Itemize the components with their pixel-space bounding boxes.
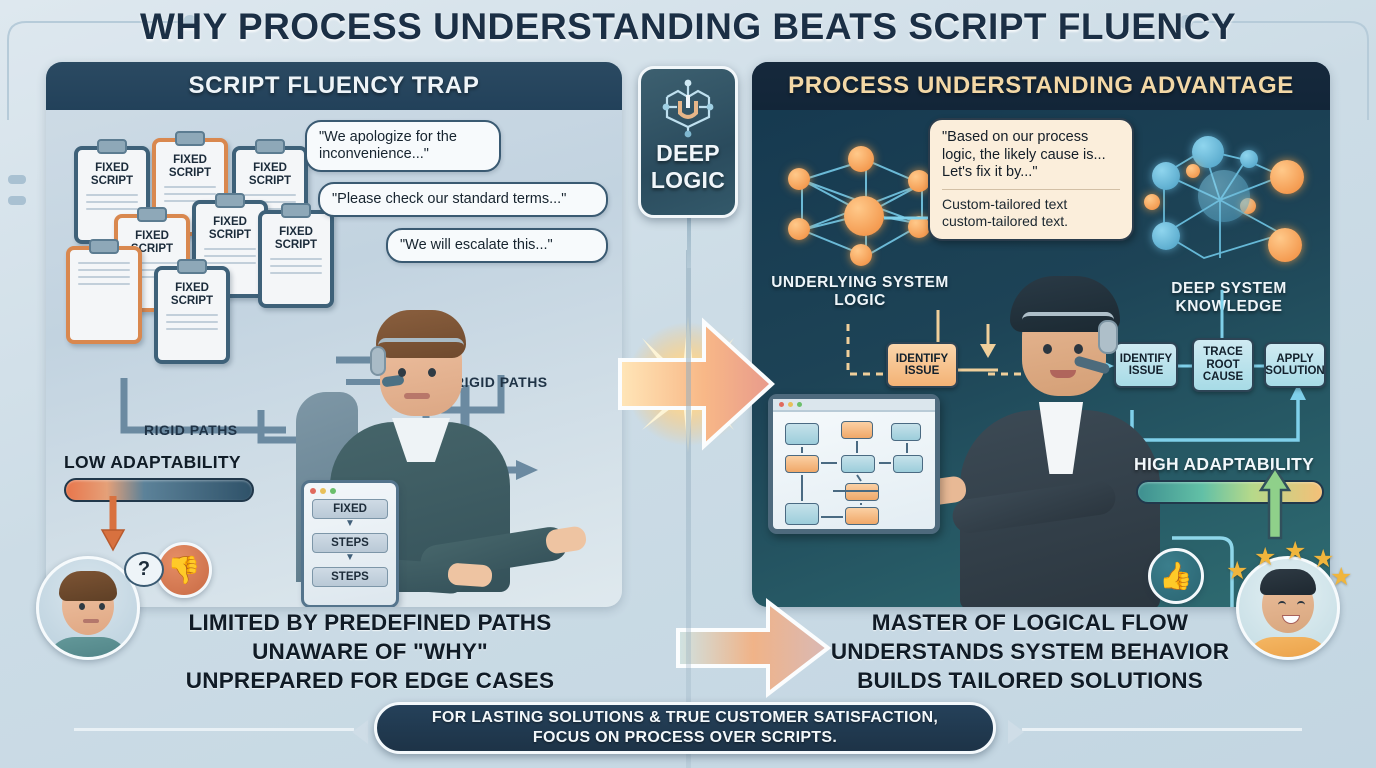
- clipboard-label: FIXED SCRIPT: [78, 162, 146, 188]
- clipboard-lines: [86, 194, 138, 210]
- left-conclusion-line-2: UNAWARE OF "WHY": [150, 637, 590, 666]
- footer-rail-right: [1022, 728, 1302, 731]
- clipboard-blank: [66, 246, 142, 344]
- right-conclusion: MASTER OF LOGICAL FLOW UNDERSTANDS SYSTE…: [810, 608, 1250, 695]
- right-panel-header: PROCESS UNDERSTANDING ADVANTAGE: [752, 62, 1330, 110]
- step-down-arrow-icon: ▼: [304, 553, 396, 562]
- process-answer-main: "Based on our process logic, the likely …: [942, 129, 1120, 182]
- clipboard-lines: [78, 262, 130, 285]
- step-chip: STEPS: [312, 533, 388, 553]
- script-bubble-1: "We apologize for the inconvenience...": [305, 120, 501, 172]
- left-conclusion: LIMITED BY PREDEFINED PATHS UNAWARE OF "…: [150, 608, 590, 695]
- script-bubble-3: "We will escalate this...": [386, 228, 608, 263]
- right-conclusion-line-1: MASTER OF LOGICAL FLOW: [810, 608, 1250, 637]
- deep-logic-badge[interactable]: DEEP LOGIC: [638, 66, 738, 218]
- avatar-body: [45, 637, 131, 660]
- deco-dot-5: [8, 175, 26, 184]
- right-conclusion-line-2: UNDERSTANDS SYSTEM BEHAVIOR: [810, 637, 1250, 666]
- right-conclusion-line-3: BUILDS TAILORED SOLUTIONS: [810, 666, 1250, 695]
- infographic-canvas: WHY PROCESS UNDERSTANDING BEATS SCRIPT F…: [0, 0, 1376, 768]
- bubble-divider: [942, 189, 1120, 190]
- low-adaptability-label: LOW ADAPTABILITY: [64, 452, 241, 473]
- clipboard-lines: [270, 258, 322, 274]
- question-mark-glyph: ?: [138, 558, 150, 581]
- rating-star: ★: [1284, 536, 1306, 566]
- up-trend-arrow-icon: [1258, 464, 1292, 540]
- question-bubble: ?: [124, 552, 164, 587]
- clipboard-lines: [204, 248, 256, 264]
- footer-line-1: FOR LASTING SOLUTIONS & TRUE CUSTOMER SA…: [432, 709, 938, 726]
- avatar-body: [1244, 637, 1332, 660]
- clipboard-clip-icon: [177, 259, 207, 274]
- clipboard-label: FIXED SCRIPT: [156, 154, 224, 180]
- avatar-hair: [59, 571, 117, 601]
- footer-banner: FOR LASTING SOLUTIONS & TRUE CUSTOMER SA…: [374, 702, 996, 754]
- avatar-fringe: [1260, 569, 1316, 595]
- deep-logic-line1: DEEP: [656, 141, 720, 166]
- step-down-arrow-icon: ▼: [304, 519, 396, 528]
- clipboard-label: FIXED SCRIPT: [196, 216, 264, 242]
- rating-star: ★: [1330, 562, 1352, 592]
- process-chip-label: IDENTIFY ISSUE: [888, 353, 956, 378]
- clipboard-clip-icon: [255, 139, 285, 154]
- footer-line-2: FOCUS ON PROCESS OVER SCRIPTS.: [533, 729, 837, 746]
- clipboard-clip-icon: [215, 193, 245, 208]
- script-bubble-1-text: "We apologize for the inconvenience...": [319, 129, 457, 162]
- footer-rail-left: [74, 728, 354, 731]
- process-chip-apply-solution[interactable]: APPLY SOLUTION: [1264, 342, 1326, 388]
- deco-dot-6: [8, 196, 26, 205]
- clipboard-clip-icon: [281, 203, 311, 218]
- high-adaptability-bar: [1136, 480, 1324, 504]
- rating-star: ★: [1254, 542, 1276, 572]
- clipboard-clip-icon: [175, 131, 205, 146]
- clipboard-label: FIXED SCRIPT: [262, 226, 330, 252]
- deep-logic-line2: LOGIC: [651, 168, 725, 193]
- low-adaptability-bar: [64, 478, 254, 502]
- step-chip: FIXED: [312, 499, 388, 519]
- fixed-steps-tablet: FIXED ▼ STEPS ▼ STEPS: [301, 480, 399, 607]
- clipboard-fixed-script: FIXED SCRIPT: [154, 266, 230, 364]
- script-bubble-3-text: "We will escalate this...": [400, 237, 553, 253]
- script-bubble-2-text: "Please check our standard terms...": [332, 191, 566, 207]
- step-chip: STEPS: [312, 567, 388, 587]
- clipboard-label: FIXED SCRIPT: [158, 282, 226, 308]
- left-panel-header: SCRIPT FLUENCY TRAP: [46, 62, 622, 110]
- clipboard-clip-icon: [89, 239, 119, 254]
- deep-logic-stem: [687, 218, 691, 268]
- page-title: WHY PROCESS UNDERSTANDING BEATS SCRIPT F…: [0, 6, 1376, 48]
- footer-arrow-right-icon: [1008, 720, 1024, 744]
- left-conclusion-line-1: LIMITED BY PREDEFINED PATHS: [150, 608, 590, 637]
- rating-star: ★: [1226, 556, 1248, 586]
- tablet-window-dots: [304, 483, 396, 494]
- center-divider: [686, 250, 691, 768]
- footer-arrow-left-icon: [352, 720, 368, 744]
- process-chip-label: APPLY SOLUTION: [1265, 353, 1324, 378]
- down-trend-arrow-icon: [98, 496, 128, 552]
- left-conclusion-line-3: UNPREPARED FOR EDGE CASES: [150, 666, 590, 695]
- process-answer-sub: Custom-tailored text custom-tailored tex…: [942, 196, 1120, 230]
- transition-arrow-top: [600, 296, 800, 461]
- clipboard-label: FIXED SCRIPT: [236, 162, 304, 188]
- deep-logic-circuit-icon: [655, 77, 721, 139]
- clipboard-lines: [166, 314, 218, 330]
- rigid-paths-label-lower: RIGID PATHS: [144, 422, 238, 438]
- clipboard-clip-icon: [97, 139, 127, 154]
- script-bubble-2: "Please check our standard terms...": [318, 182, 608, 217]
- clipboard-clip-icon: [137, 207, 167, 222]
- process-answer-bubble: "Based on our process logic, the likely …: [928, 118, 1134, 241]
